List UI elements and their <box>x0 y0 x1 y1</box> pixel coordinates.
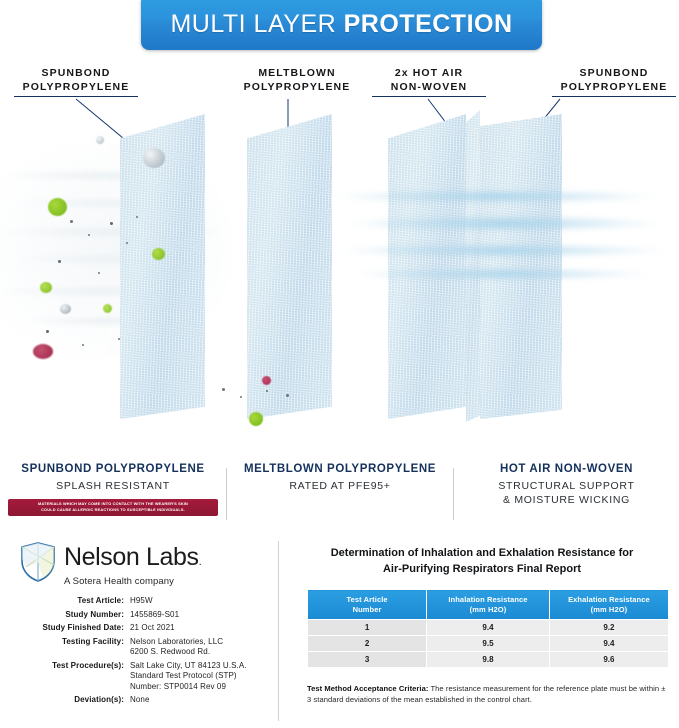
report-title: Determination of Inhalation and Exhalati… <box>292 545 672 577</box>
caption-row: SPUNBOND POLYPROPYLENE SPLASH RESISTANT … <box>0 462 679 530</box>
airflow-streak <box>335 246 670 255</box>
field-value: Nelson Laboratories, LLC 6200 S. Redwood… <box>130 637 276 658</box>
layer-sheet-meltblown <box>247 114 332 419</box>
particle-speck <box>266 390 268 392</box>
particle-droplet <box>60 304 71 314</box>
field-label: Test Article: <box>14 596 130 607</box>
page-title: MULTI LAYER PROTECTION <box>170 8 512 37</box>
field-label: Study Number: <box>14 610 130 621</box>
caption-subtitle: STRUCTURAL SUPPORT <box>454 479 679 493</box>
field-value-line: 21 Oct 2021 <box>130 623 276 634</box>
particle-speck <box>58 260 61 263</box>
shield-icon <box>18 541 58 583</box>
particle-speck <box>98 272 100 274</box>
allergy-warning-banner: MATERIALS WHICH MAY COME INTO CONTACT WI… <box>8 499 218 516</box>
particle-speck <box>118 338 120 340</box>
acceptance-criteria-label: Test Method Acceptance Criteria: <box>307 684 428 693</box>
field-label: Test Procedure(s): <box>14 661 130 693</box>
field-row-deviations: Deviation(s): None <box>14 695 276 706</box>
layer-sheet-hot-air-b <box>466 110 480 422</box>
field-row-testing-facility: Testing Facility: Nelson Laboratories, L… <box>14 637 276 658</box>
field-row-study-number: Study Number: 1455869-S01 <box>14 610 276 621</box>
cell-exhalation-resistance: 9.6 <box>549 652 668 668</box>
airflow-streak <box>352 270 652 278</box>
airflow-streak <box>330 192 660 201</box>
caption-title: MELTBLOWN POLYPROPYLENE <box>227 462 453 477</box>
particle-speck <box>46 330 49 333</box>
cell-inhalation-resistance: 9.4 <box>427 620 550 636</box>
field-value-line: None <box>130 695 276 706</box>
column-header-test-article: Test Article Number <box>308 590 427 620</box>
field-value-line: Salt Lake City, UT 84123 U.S.A. <box>130 661 276 672</box>
particle-speck <box>88 234 90 236</box>
caption-title: HOT AIR NON-WOVEN <box>454 462 679 477</box>
table-row: 2 9.5 9.4 <box>308 636 669 652</box>
column-header-line-1: Exhalation Resistance <box>552 595 666 605</box>
field-value: None <box>130 695 276 706</box>
report-section: Nelson Labs. A Sotera Health company Tes… <box>0 533 679 728</box>
logo-tagline: A Sotera Health company <box>64 576 201 587</box>
banner-title-light: MULTI LAYER <box>170 10 336 38</box>
particle-speck <box>110 222 113 225</box>
caption-subtitle-2: & MOISTURE WICKING <box>454 493 679 507</box>
cell-test-article-number: 3 <box>308 652 427 668</box>
report-title-line-1: Determination of Inhalation and Exhalati… <box>292 545 672 561</box>
layer-illustration <box>0 100 679 455</box>
particle-green <box>48 198 67 216</box>
particle-red <box>33 344 53 359</box>
header-banner: MULTI LAYER PROTECTION <box>0 0 679 58</box>
column-header-line-2: (mm H2O) <box>429 605 547 615</box>
report-fields: Test Article: H95W Study Number: 1455869… <box>14 596 276 709</box>
field-label: Study Finished Date: <box>14 623 130 634</box>
field-value: Salt Lake City, UT 84123 U.S.A. Standard… <box>130 661 276 693</box>
banner-title-bold: PROTECTION <box>344 10 513 38</box>
report-title-line-2: Air-Purifying Respirators Final Report <box>292 561 672 577</box>
table-row: 3 9.8 9.6 <box>308 652 669 668</box>
cell-test-article-number: 1 <box>308 620 427 636</box>
field-value-line: Standard Test Protocol (STP) <box>130 671 276 682</box>
field-value-line: Number: STP0014 Rev 09 <box>130 682 276 693</box>
caption-meltblown: MELTBLOWN POLYPROPYLENE RATED AT PFE95+ <box>227 462 453 493</box>
field-value: 21 Oct 2021 <box>130 623 276 634</box>
field-value-line: 6200 S. Redwood Rd. <box>130 647 276 658</box>
cell-test-article-number: 2 <box>308 636 427 652</box>
caption-title: SPUNBOND POLYPROPYLENE <box>0 462 226 477</box>
column-header-line-2: (mm H2O) <box>552 605 666 615</box>
particle-speck <box>286 394 289 397</box>
field-value-line: 1455869-S01 <box>130 610 276 621</box>
column-header-line-1: Test Article <box>310 595 424 605</box>
column-header-exhalation: Exhalation Resistance (mm H2O) <box>549 590 668 620</box>
column-header-line-1: Inhalation Resistance <box>429 595 547 605</box>
field-row-test-article: Test Article: H95W <box>14 596 276 607</box>
logo-title: Nelson Labs. <box>64 544 201 575</box>
particle-speck <box>222 388 225 391</box>
layer-sheet-hot-air-a <box>388 114 466 419</box>
cell-inhalation-resistance: 9.8 <box>427 652 550 668</box>
column-header-line-2: Number <box>310 605 424 615</box>
particle-green <box>249 412 263 426</box>
cell-exhalation-resistance: 9.4 <box>549 636 668 652</box>
table-row: 1 9.4 9.2 <box>308 620 669 636</box>
airflow-streak <box>345 218 665 229</box>
particle-speck <box>126 242 128 244</box>
particle-speck <box>136 216 138 218</box>
nelson-labs-logo: Nelson Labs. A Sotera Health company <box>18 541 201 587</box>
caption-subtitle: RATED AT PFE95+ <box>227 479 453 493</box>
field-row-study-finished-date: Study Finished Date: 21 Oct 2021 <box>14 623 276 634</box>
warning-line-2: COULD CAUSE ALLERGIC REACTIONS TO SUSCEP… <box>12 507 214 513</box>
particle-speck <box>82 344 84 346</box>
field-row-test-procedures: Test Procedure(s): Salt Lake City, UT 84… <box>14 661 276 693</box>
caption-subtitle: SPLASH RESISTANT <box>0 479 226 493</box>
acceptance-criteria-note: Test Method Acceptance Criteria: The res… <box>307 683 671 705</box>
field-label: Deviation(s): <box>14 695 130 706</box>
banner-pill: MULTI LAYER PROTECTION <box>141 0 542 50</box>
table-header-row: Test Article Number Inhalation Resistanc… <box>308 590 669 620</box>
particle-green <box>152 248 165 260</box>
cell-exhalation-resistance: 9.2 <box>549 620 668 636</box>
logo-reg-mark: . <box>199 556 202 568</box>
field-value: H95W <box>130 596 276 607</box>
particle-speck <box>240 396 242 398</box>
caption-spunbond: SPUNBOND POLYPROPYLENE SPLASH RESISTANT … <box>0 462 226 516</box>
caption-hot-air: HOT AIR NON-WOVEN STRUCTURAL SUPPORT & M… <box>454 462 679 507</box>
logo-name-text: Nelson Labs <box>64 543 199 571</box>
field-value: 1455869-S01 <box>130 610 276 621</box>
particle-red <box>262 376 271 385</box>
column-header-inhalation: Inhalation Resistance (mm H2O) <box>427 590 550 620</box>
field-value-line: H95W <box>130 596 276 607</box>
field-value-line: Nelson Laboratories, LLC <box>130 637 276 648</box>
resistance-results-table: Test Article Number Inhalation Resistanc… <box>307 589 669 668</box>
logo-text-block: Nelson Labs. A Sotera Health company <box>64 541 201 587</box>
particle-droplet <box>143 148 165 168</box>
particle-green <box>103 304 112 313</box>
particle-green <box>40 282 52 293</box>
particle-droplet <box>96 136 104 144</box>
particle-speck <box>70 220 73 223</box>
cell-inhalation-resistance: 9.5 <box>427 636 550 652</box>
field-label: Testing Facility: <box>14 637 130 658</box>
layer-sheet-spunbond-inner <box>480 114 562 419</box>
report-divider <box>278 541 279 721</box>
